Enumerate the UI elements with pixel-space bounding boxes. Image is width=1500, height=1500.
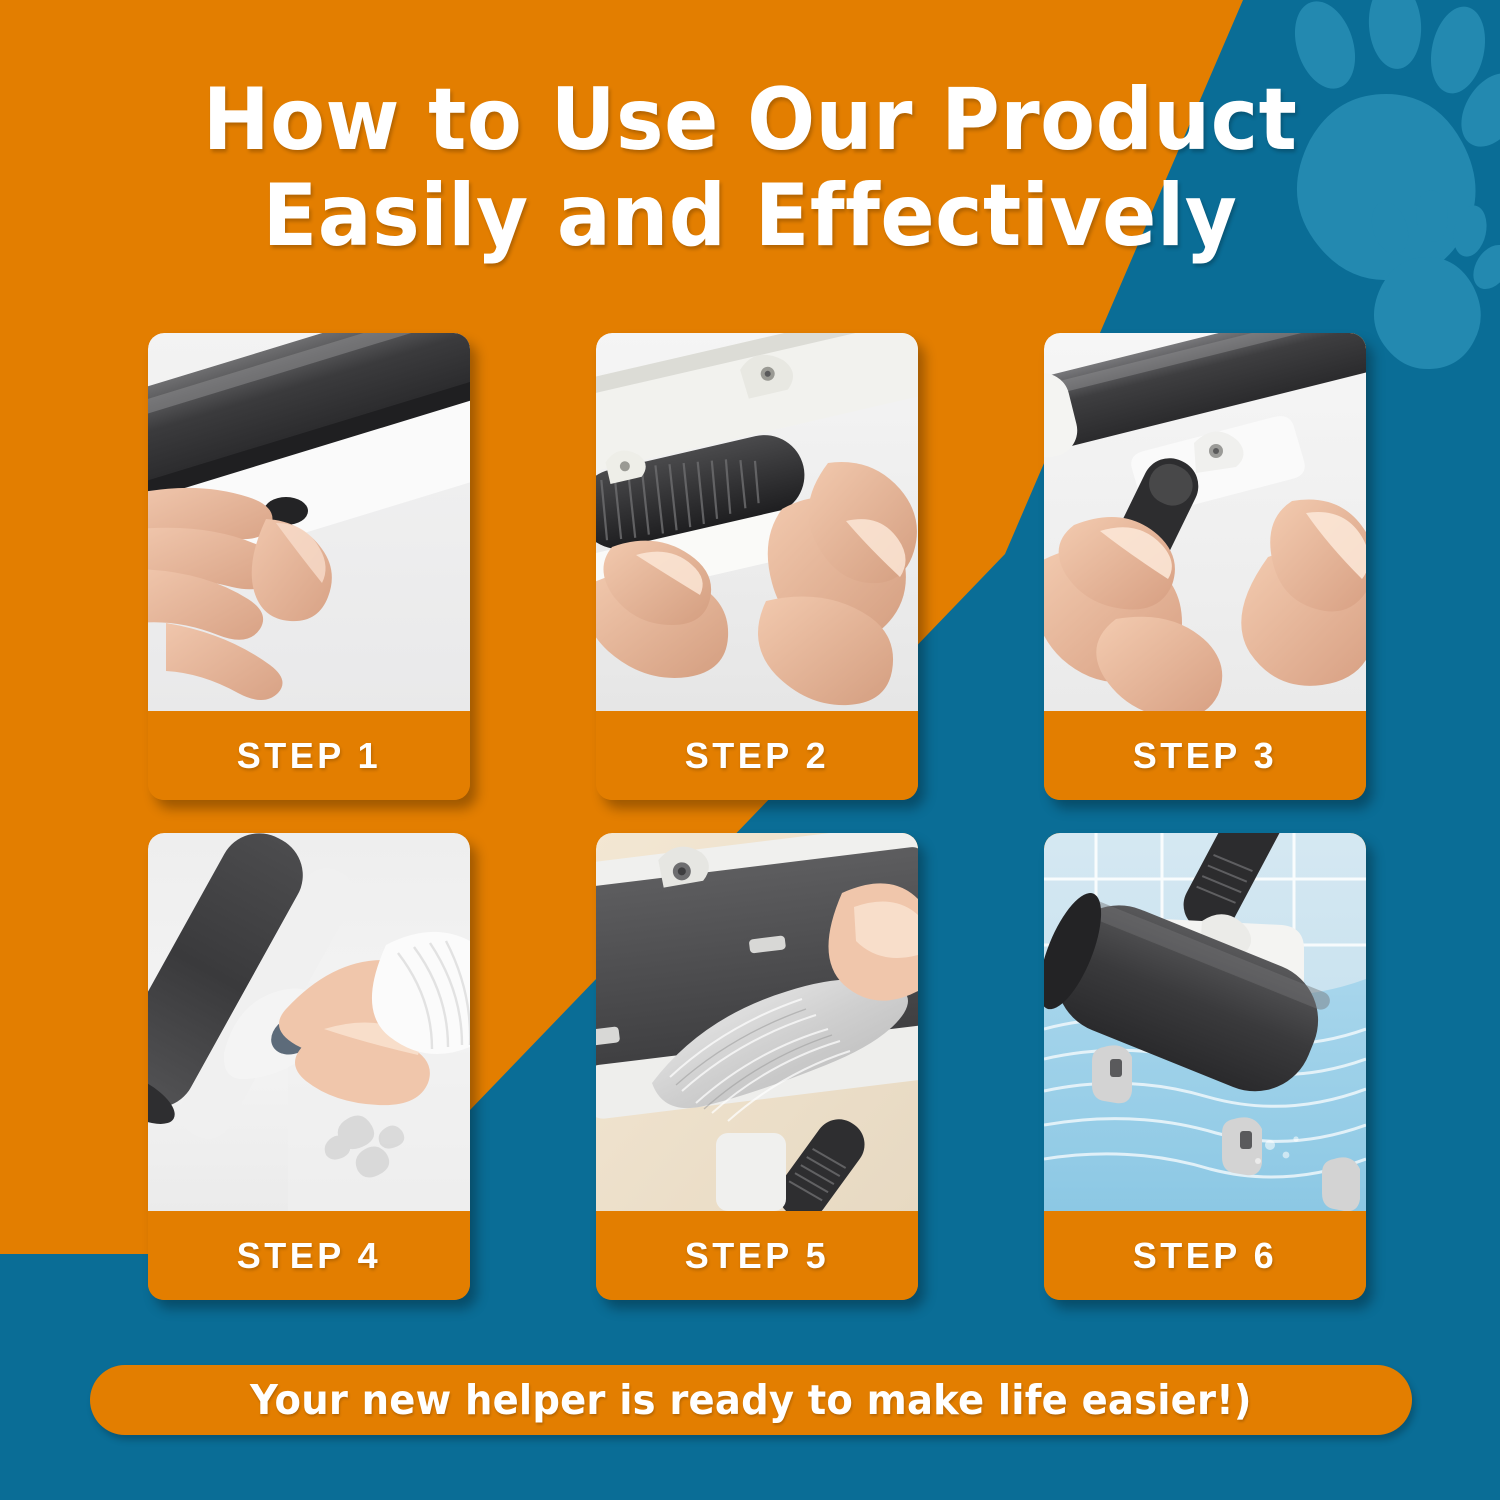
footer-banner: Your new helper is ready to make life ea… (90, 1365, 1412, 1435)
page-title-line-1: How to Use Our Product (53, 72, 1448, 168)
step-2-caption: STEP 2 (596, 711, 918, 800)
step-4-photo (148, 833, 470, 1211)
step-5-caption: STEP 5 (596, 1211, 918, 1300)
step-2-photo (596, 333, 918, 711)
steps-grid: STEP 1 (148, 333, 1370, 1300)
page-title-line-2: Easily and Effectively (53, 168, 1448, 264)
step-4-caption: STEP 4 (148, 1211, 470, 1300)
step-5-photo (596, 833, 918, 1211)
step-1-photo (148, 333, 470, 711)
page-title: How to Use Our Product Easily and Effect… (0, 72, 1500, 265)
step-3-photo (1044, 333, 1366, 711)
footer-banner-text: Your new helper is ready to make life ea… (250, 1376, 1252, 1424)
step-card-5: STEP 5 (596, 833, 918, 1300)
step-3-label: STEP 3 (1133, 735, 1277, 777)
step-card-6: STEP 6 (1044, 833, 1366, 1300)
step-6-photo (1044, 833, 1366, 1211)
step-1-label: STEP 1 (237, 735, 381, 777)
step-card-3: STEP 3 (1044, 333, 1366, 800)
step-card-2: STEP 2 (596, 333, 918, 800)
step-card-4: STEP 4 (148, 833, 470, 1300)
step-6-label: STEP 6 (1133, 1235, 1277, 1277)
step-2-label: STEP 2 (685, 735, 829, 777)
step-card-1: STEP 1 (148, 333, 470, 800)
step-1-caption: STEP 1 (148, 711, 470, 800)
step-6-caption: STEP 6 (1044, 1211, 1366, 1300)
step-3-caption: STEP 3 (1044, 711, 1366, 800)
step-4-label: STEP 4 (237, 1235, 381, 1277)
step-5-label: STEP 5 (685, 1235, 829, 1277)
